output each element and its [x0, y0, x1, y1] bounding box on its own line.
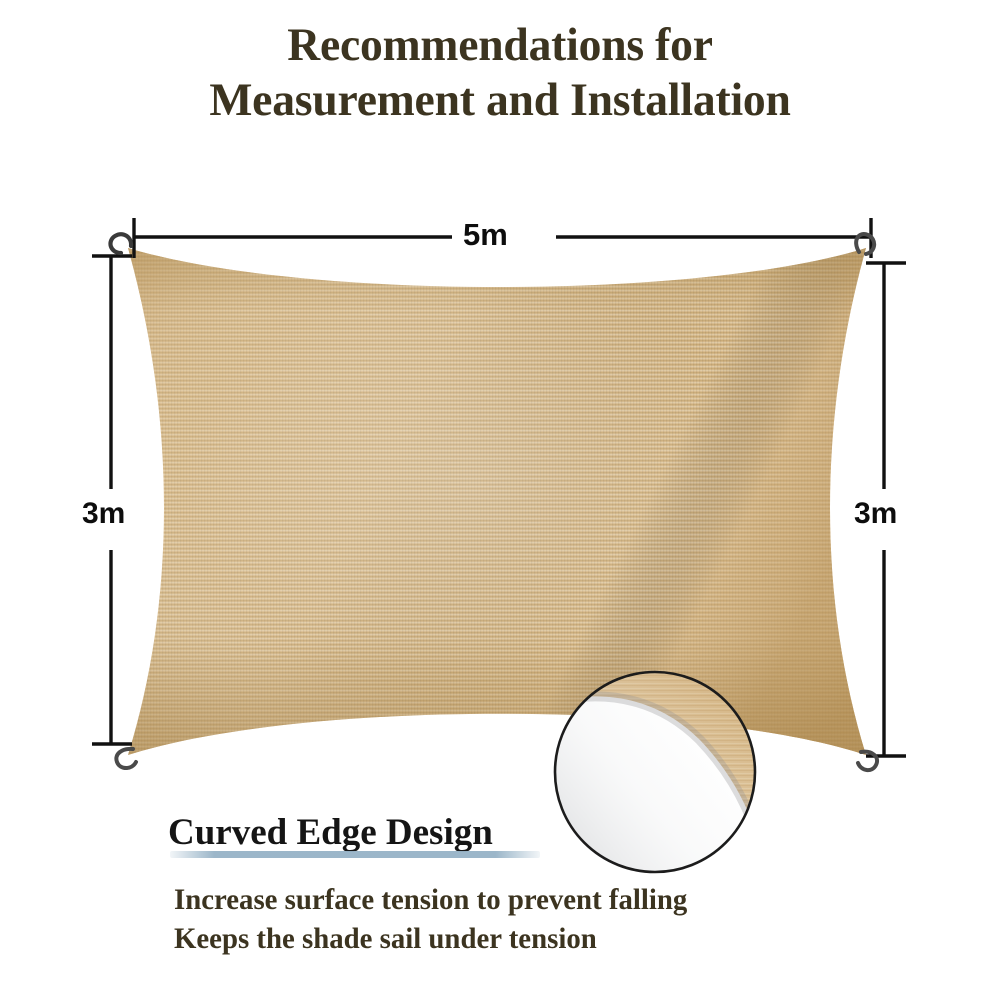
shade-sail-body	[100, 230, 900, 790]
corner-d-ring-top-left	[110, 234, 131, 253]
dimension-label-left: 3m	[78, 495, 129, 533]
caption-heading-block: Curved Edge Design	[168, 812, 868, 854]
dimension-label-top: 5m	[455, 218, 516, 252]
caption-heading: Curved Edge Design	[168, 812, 493, 854]
caption-line-1: Increase surface tension to prevent fall…	[174, 880, 865, 919]
dimension-label-right: 3m	[850, 495, 901, 533]
caption-underline	[170, 851, 540, 858]
caption-line-2: Keeps the shade sail under tension	[174, 919, 865, 958]
product-diagram-page: Recommendations for Measurement and Inst…	[0, 0, 1000, 1000]
caption-body: Increase surface tension to prevent fall…	[174, 880, 894, 958]
